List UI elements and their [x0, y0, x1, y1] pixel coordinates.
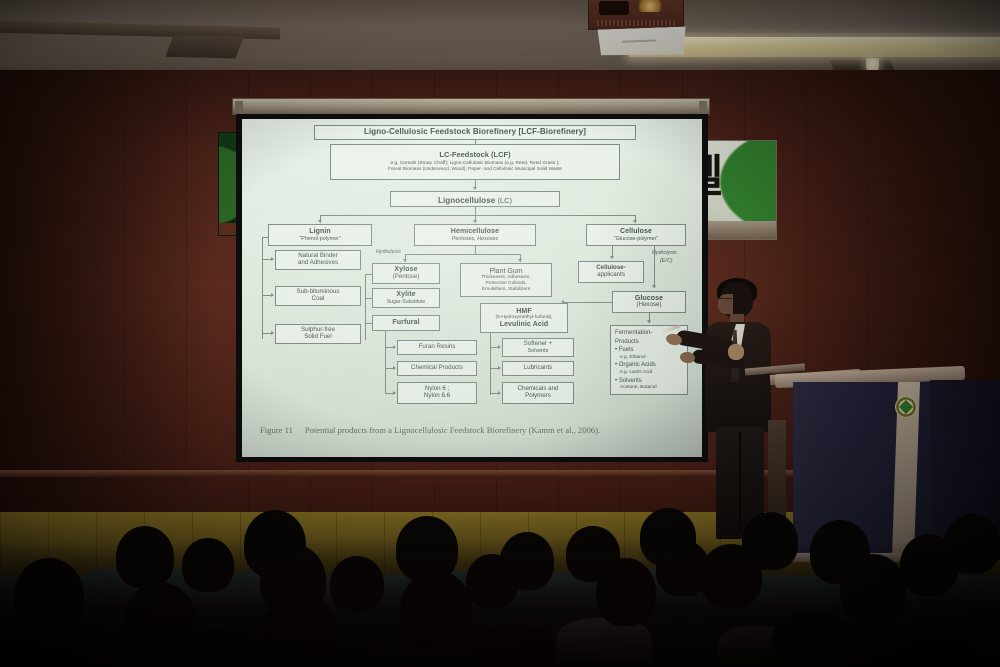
product-line2: and Adhesives: [298, 260, 338, 267]
connector: [365, 298, 373, 299]
hydrolysis-ec-label-2: (E/C): [660, 258, 673, 264]
connector: [564, 302, 612, 303]
presenter-face: [718, 294, 733, 314]
furfural-product-3: Nylon 6 ; Nylon 6.6: [397, 382, 477, 404]
arrow-right-icon: [393, 366, 396, 370]
lecture-hall-scene: 젤 Ligno-Cellulosic Feedstock Biorefinery…: [0, 0, 1000, 667]
presenter-gesturing-hand: [728, 344, 744, 360]
arrow-right-icon: [498, 366, 501, 370]
xylite-box: Xylite Sugar-Substitute: [372, 288, 440, 308]
lignin-box: Lignin “Phenol-polymer”: [268, 224, 372, 246]
furfural-product-1: Furan Resins: [397, 340, 477, 355]
xylose-sub: (Pentose): [393, 274, 420, 281]
product-line2: Polymers: [525, 393, 551, 400]
arrow-right-icon: [393, 391, 396, 395]
lignin-product-1: Natural Binder and Adhesives: [275, 250, 361, 270]
fermentation-item-1: • Fuels: [615, 346, 657, 355]
hemicellulose-sub: Pentoses, Hexoses: [452, 236, 498, 242]
applicants-line2: applicants: [597, 272, 625, 279]
connector: [654, 246, 655, 288]
institution-emblem-icon: [895, 396, 917, 418]
wall-left-shadow: [0, 70, 215, 550]
cellulose-sub: “Glucose-polymer”: [614, 236, 658, 242]
product-line1: Lubricants: [524, 365, 553, 372]
xylite-sub: Sugar-Substitute: [387, 299, 426, 305]
connector: [385, 331, 386, 393]
plant-gum-sub3: Emulsifiers, Stabilizers: [482, 287, 530, 293]
hmf-product-2: Lubricants: [502, 361, 574, 376]
arrow-down-icon: [633, 220, 637, 223]
hmf-title2: Levulinic Acid: [500, 321, 549, 329]
fermentation-list: Fermentation- Products • Fuels e.g. Etha…: [614, 329, 657, 392]
lignin-title: Lignin: [309, 228, 331, 236]
ceiling-fixture-left: [0, 20, 280, 39]
hemicellulose-title: Hemicellulose: [451, 228, 499, 236]
arrow-right-icon: [271, 293, 274, 297]
hydrolysis-label-left: Hydrolysis: [376, 249, 401, 255]
product-line1: Softener +: [524, 341, 553, 348]
fermentation-item-2-sub: e.g. Lactic Acid: [615, 370, 657, 377]
arrow-down-icon: [318, 220, 322, 223]
projector-paper-note: [598, 26, 687, 57]
hydrolysis-ec-label-1: Hydrolysis: [652, 250, 677, 256]
eyeglasses-icon: [717, 298, 732, 302]
projector-vent: [597, 20, 675, 26]
cellulose-applicants-box: Cellulose- applicants: [578, 261, 644, 283]
hemicellulose-box: Hemicellulose Pentoses, Hexoses: [414, 224, 536, 246]
arrow-right-icon: [498, 391, 501, 395]
presentation-slide: Ligno-Cellulosic Feedstock Biorefinery […: [242, 119, 702, 457]
screen-roller-housing[interactable]: [232, 98, 710, 115]
connector: [475, 207, 476, 215]
furfural-product-2: Chemical Products: [397, 361, 477, 376]
hmf-product-3: Chemicals and Polymers: [502, 382, 574, 404]
cellulose-box: Cellulose “Glucose-polymer”: [586, 224, 686, 246]
lc-feedstock-box: LC-Feedstock (LCF) e.g. Cereals (Straw, …: [330, 144, 620, 180]
arrow-down-icon: [518, 259, 522, 262]
cellulose-title: Cellulose: [620, 228, 652, 236]
glucose-box: Glucose (Hexose): [612, 291, 686, 313]
plant-gum-box: Plant Gum Thickeners, Adhesives, Protect…: [460, 263, 552, 297]
lignin-product-2: Sub-bituminous Coal: [275, 286, 361, 306]
fermentation-heading2: Products: [615, 338, 657, 347]
product-line2: Solvents: [528, 348, 549, 354]
arrow-right-icon: [498, 345, 501, 349]
arrow-right-icon: [271, 331, 274, 335]
arrow-down-icon: [647, 320, 651, 323]
arrow-down-icon: [473, 220, 477, 223]
connector: [490, 333, 491, 395]
roller-endcap-right: [699, 101, 707, 113]
product-line2: Solid Fuel: [304, 334, 332, 341]
fermentation-item-2: • Organic Acids: [615, 361, 657, 370]
slide-title: Ligno-Cellulosic Feedstock Biorefinery […: [364, 128, 586, 137]
product-line2: Coal: [312, 296, 325, 303]
lignocellulose-label: Lignocellulose (LC): [438, 190, 512, 207]
connector: [262, 237, 269, 238]
arrow-down-icon: [652, 285, 656, 288]
projection-screen: Ligno-Cellulosic Feedstock Biorefinery […: [242, 119, 702, 457]
arrow-down-icon: [610, 256, 614, 259]
figure-caption: Figure 11Potential products from a Ligno…: [260, 425, 690, 435]
furfural-box: Furfural: [372, 315, 440, 331]
glucose-sub: (Hexose): [636, 302, 661, 309]
xylose-box: Xylose (Pentose): [372, 263, 440, 284]
connector: [405, 254, 520, 255]
arrow-right-icon: [271, 257, 274, 261]
projector-lens-icon: [599, 1, 629, 15]
hmf-product-1: Softener + Solvents: [502, 338, 574, 357]
furfural-title: Furfural: [392, 319, 419, 327]
lignin-sub: “Phenol-polymer”: [299, 236, 340, 242]
product-line1: Chemical Products: [411, 365, 463, 372]
connector: [365, 323, 373, 324]
slide-title-box: Ligno-Cellulosic Feedstock Biorefinery […: [314, 125, 636, 140]
lc-feedstock-line2: Forest Biomass (Underwood, Wood); Paper-…: [388, 167, 562, 173]
connector: [320, 215, 635, 216]
projector: [588, 0, 684, 30]
lignin-product-3: Sulphur-free Solid Fuel: [275, 324, 361, 344]
connector: [262, 237, 263, 339]
product-line2: Nylon 6.6: [424, 393, 450, 400]
arrow-down-icon: [403, 259, 407, 262]
fermentation-item-1-sub: e.g. Ethanol: [615, 355, 657, 362]
fermentation-item-3: • Solvents: [615, 377, 657, 386]
lc-feedstock-heading: LC-Feedstock (LCF): [439, 151, 510, 159]
figure-caption-text: Potential products from a Lignocellulosi…: [305, 425, 600, 435]
product-line1: Furan Resins: [419, 344, 456, 351]
lignocellulose-box: Lignocellulose (LC): [390, 191, 560, 207]
connector: [475, 246, 476, 254]
figure-number: Figure 11: [260, 425, 293, 435]
xylite-title: Xylite: [396, 291, 415, 299]
hmf-box: HMF (5-Hydroxymethyl-furfural), Levulini…: [480, 303, 568, 333]
connector: [365, 274, 366, 340]
projector-lamp-glow: [635, 0, 665, 12]
fermentation-heading1: Fermentation-: [615, 329, 657, 338]
roller-endcap-left: [235, 101, 243, 113]
connector: [365, 274, 373, 275]
room-shadow-gradient: [0, 540, 1000, 667]
arrow-right-icon: [393, 345, 396, 349]
fermentation-item-3-sub: Acetone, Butanol: [615, 385, 657, 392]
